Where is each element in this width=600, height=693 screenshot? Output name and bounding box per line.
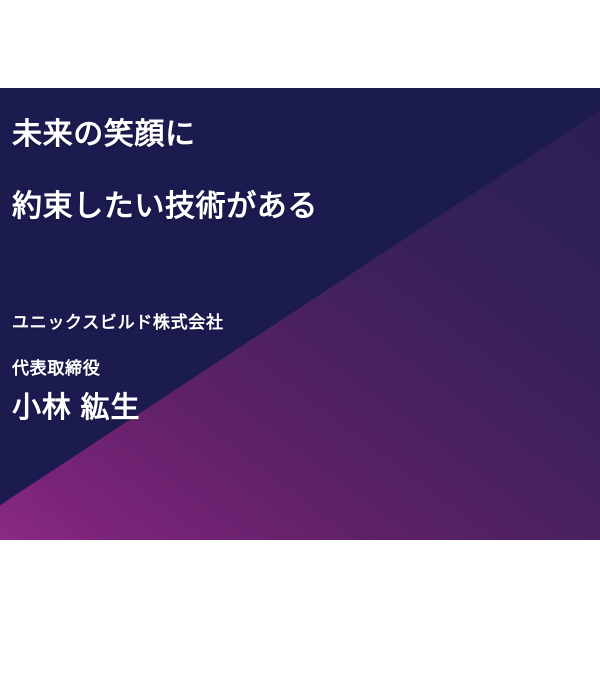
headline-line-1: 未来の笑顔に bbox=[12, 120, 196, 150]
banner-copy: 未来の笑顔に 約束したい技術がある ユニックスビルド株式会社 代表取締役 小林 … bbox=[12, 88, 572, 540]
person-name: 小林 紘生 bbox=[12, 394, 140, 423]
company-name: ユニックスビルド株式会社 bbox=[12, 314, 224, 331]
headline-line-2: 約束したい技術がある bbox=[12, 192, 318, 222]
person-role: 代表取締役 bbox=[12, 360, 100, 377]
page-root: { "banner": { "geometry": { "top": 88, "… bbox=[0, 0, 600, 693]
hero-banner: 未来の笑顔に 約束したい技術がある ユニックスビルド株式会社 代表取締役 小林 … bbox=[0, 88, 600, 540]
